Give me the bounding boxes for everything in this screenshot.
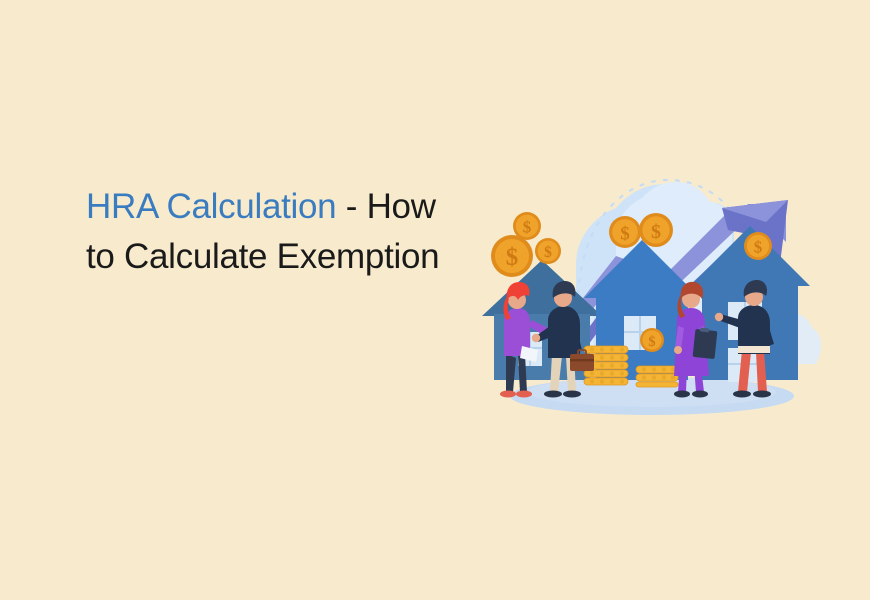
real-estate-growth-illustration: $ $ $ $	[466, 168, 828, 430]
page-title: HRA Calculation - How to Calculate Exemp…	[86, 182, 466, 281]
svg-text:$: $	[651, 221, 661, 243]
page-title-accent: HRA Calculation	[86, 187, 336, 226]
coin-stack-short	[636, 366, 678, 387]
coin-5: $	[639, 213, 673, 247]
svg-text:$: $	[544, 244, 552, 261]
coin-1: $	[491, 235, 533, 277]
headline-block: HRA Calculation - How to Calculate Exemp…	[86, 182, 466, 281]
svg-text:$: $	[754, 238, 763, 257]
banner-root: HRA Calculation - How to Calculate Exemp…	[0, 0, 870, 600]
coin-3: $	[535, 238, 561, 264]
coin-6: $	[744, 232, 772, 260]
svg-text:$: $	[506, 244, 519, 271]
coin-4: $	[609, 216, 641, 248]
svg-text:$: $	[648, 334, 655, 350]
coin-2: $	[513, 212, 541, 240]
svg-text:$: $	[523, 218, 532, 237]
coin-7: $	[640, 328, 664, 352]
svg-text:$: $	[620, 224, 630, 245]
